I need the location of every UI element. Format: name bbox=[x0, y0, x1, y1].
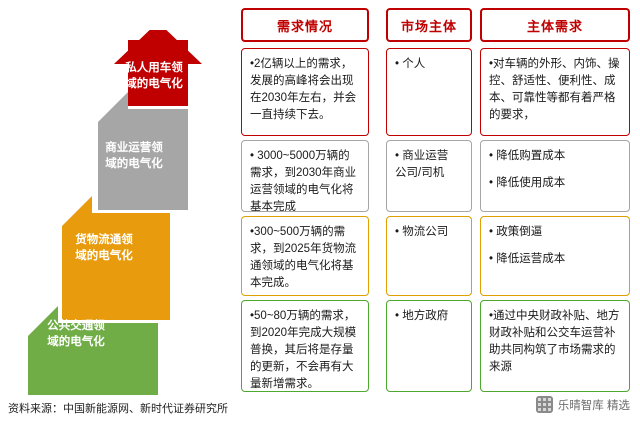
column-header-demand: 需求情况 bbox=[241, 8, 369, 42]
needs-commercial-item-2: • 降低使用成本 bbox=[489, 175, 621, 192]
arrow-label-public-transport: 公共交通领 域的电气化 bbox=[26, 318, 126, 350]
column-header-demand-label: 需求情况 bbox=[277, 16, 333, 35]
watermark-label: 乐晴智库 精选 bbox=[558, 397, 630, 413]
needs-commercial-item-1: • 降低购置成本 bbox=[489, 148, 621, 165]
needs-logistics-item-1: • 政策倒逼 bbox=[489, 224, 621, 241]
cell-actor-commercial: • 商业运营 公司/司机 bbox=[386, 140, 472, 212]
source-note: 资料来源：中国新能源网、新时代证券研究所 bbox=[8, 400, 228, 416]
diagram-canvas: 需求情况 市场主体 主体需求 私人用车领 域的电气化 商业运营领 域的电气化 货… bbox=[0, 0, 640, 424]
arrow-label-private-car: 私人用车领 域的电气化 bbox=[114, 60, 194, 92]
cell-demand-public-transport: •50~80万辆的需求，到2020年完成大规模普换，其后将是存量的更新，不会再有… bbox=[241, 300, 369, 392]
cell-actor-logistics: • 物流公司 bbox=[386, 216, 472, 296]
cell-demand-commercial: • 3000~5000万辆的需求，到2030年商业运营领域的电气化将基本完成 bbox=[241, 140, 369, 212]
qr-code-icon bbox=[536, 396, 553, 413]
cell-needs-logistics: • 政策倒逼 • 降低运营成本 bbox=[480, 216, 630, 296]
cell-needs-public-transport: •通过中央财政补贴、地方财政补贴和公交车运营补助共同构筑了市场需求的来源 bbox=[480, 300, 630, 392]
arrow-label-logistics: 货物流通领 域的电气化 bbox=[58, 232, 150, 264]
cell-needs-commercial: • 降低购置成本 • 降低使用成本 bbox=[480, 140, 630, 212]
needs-logistics-item-2: • 降低运营成本 bbox=[489, 251, 621, 268]
cell-needs-private-car: •对车辆的外形、内饰、操控、舒适性、便利性、成本、可靠性等都有着严格的要求， bbox=[480, 48, 630, 136]
cell-actor-public-transport: • 地方政府 bbox=[386, 300, 472, 392]
arrow-private-car-head bbox=[114, 30, 202, 64]
cell-demand-logistics: •300~500万辆的需求，到2025年货物流通领域的电气化将基本完成。 bbox=[241, 216, 369, 296]
column-header-needs: 主体需求 bbox=[480, 8, 630, 42]
column-header-actor-label: 市场主体 bbox=[401, 16, 457, 35]
arrow-label-commercial: 商业运营领 域的电气化 bbox=[92, 140, 176, 172]
cell-actor-private-car: • 个人 bbox=[386, 48, 472, 136]
watermark: 乐晴智库 精选 bbox=[536, 396, 630, 413]
column-header-actor: 市场主体 bbox=[386, 8, 472, 42]
column-header-needs-label: 主体需求 bbox=[527, 16, 583, 35]
cell-demand-private-car: •2亿辆以上的需求，发展的高峰将会出现在2030年左右，并会一直持续下去。 bbox=[241, 48, 369, 136]
